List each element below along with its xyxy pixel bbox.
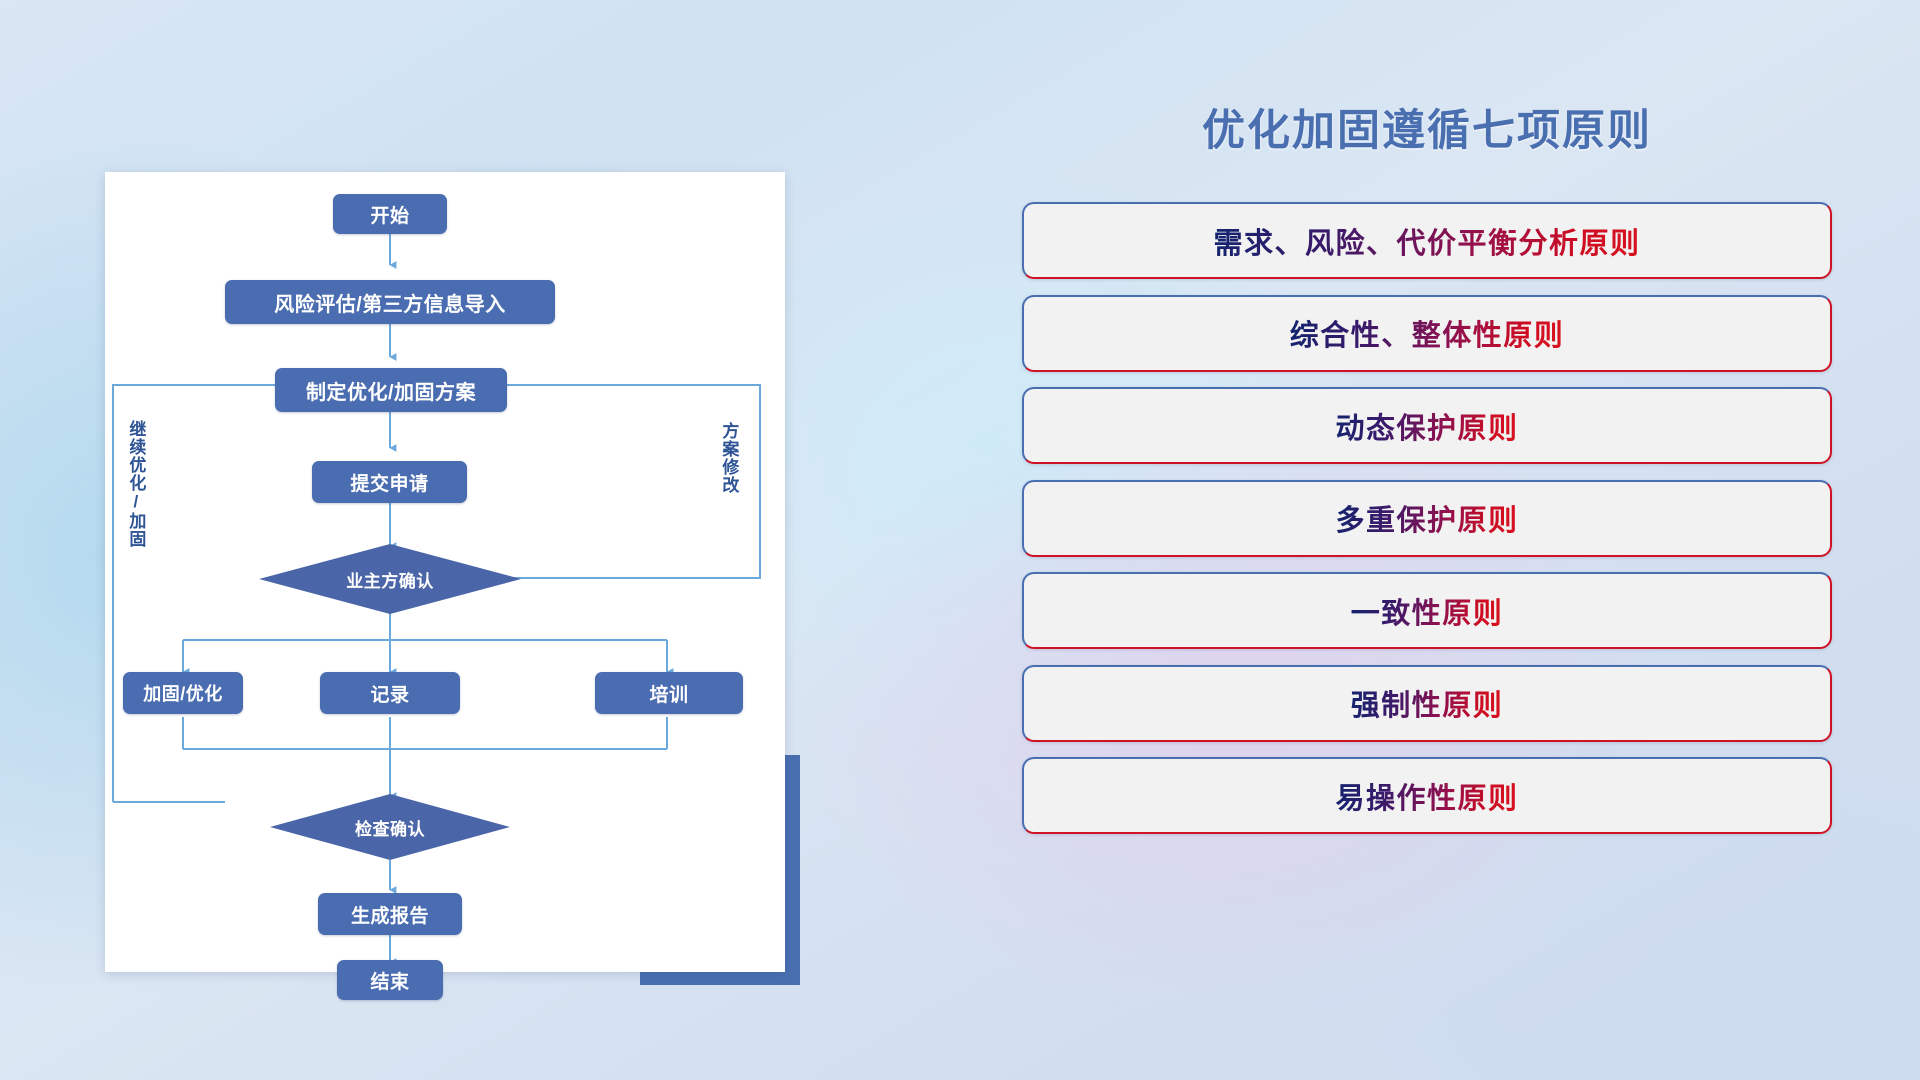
flow-node-reinforce-label: 加固/优化 — [143, 680, 223, 706]
principle-card-6[interactable]: 强制性原则 — [1022, 665, 1832, 742]
principle-card-7[interactable]: 易操作性原则 — [1022, 757, 1832, 834]
principle-card-5-label: 一致性原则 — [1351, 590, 1504, 632]
flow-node-reinforce[interactable]: 加固/优化 — [123, 672, 243, 714]
flow-node-risk-assessment-label: 风险评估/第三方信息导入 — [274, 288, 506, 317]
flow-node-check-confirm[interactable]: 检查确认 — [270, 794, 510, 860]
loop-label-right: 方案修改 — [720, 422, 737, 494]
flow-node-report-label: 生成报告 — [351, 901, 429, 928]
flow-node-owner-confirm-label: 业主方确认 — [346, 567, 434, 592]
principle-card-4-label: 多重保护原则 — [1335, 497, 1518, 539]
flow-node-training-label: 培训 — [649, 680, 688, 707]
flow-node-submit-label: 提交申请 — [350, 469, 428, 496]
flow-node-plan-label: 制定优化/加固方案 — [306, 376, 476, 405]
flow-node-start[interactable]: 开始 — [333, 194, 447, 234]
principle-card-2[interactable]: 综合性、整体性原则 — [1022, 295, 1832, 372]
flow-node-end[interactable]: 结束 — [337, 960, 443, 1000]
principles-section: 优化加固遵循七项原则 需求、风险、代价平衡分析原则 综合性、整体性原则 动态保护… — [1022, 96, 1832, 1016]
flow-node-training[interactable]: 培训 — [595, 672, 743, 714]
flowchart-panel: 继续优化/加固 方案修改 开始 风险评估/第三方信息导入 制定优化/加固方案 提… — [105, 172, 785, 972]
flow-node-check-confirm-label: 检查确认 — [355, 815, 425, 840]
principle-card-3-label: 动态保护原则 — [1335, 405, 1518, 447]
flow-node-owner-confirm[interactable]: 业主方确认 — [259, 544, 521, 614]
loop-label-left: 继续优化/加固 — [127, 420, 144, 548]
flow-node-start-label: 开始 — [370, 201, 409, 228]
slide-canvas: 继续优化/加固 方案修改 开始 风险评估/第三方信息导入 制定优化/加固方案 提… — [0, 0, 1920, 1080]
principle-card-1[interactable]: 需求、风险、代价平衡分析原则 — [1022, 202, 1832, 279]
principles-card-list: 需求、风险、代价平衡分析原则 综合性、整体性原则 动态保护原则 多重保护原则 一… — [1022, 202, 1832, 834]
flow-node-record[interactable]: 记录 — [320, 672, 460, 714]
flow-node-end-label: 结束 — [370, 967, 409, 994]
flow-node-risk-assessment[interactable]: 风险评估/第三方信息导入 — [225, 280, 555, 324]
flow-node-report[interactable]: 生成报告 — [318, 893, 462, 935]
page-title: 优化加固遵循七项原则 — [1022, 96, 1832, 158]
principle-card-1-label: 需求、风险、代价平衡分析原则 — [1213, 220, 1640, 262]
principle-card-5[interactable]: 一致性原则 — [1022, 572, 1832, 649]
flow-node-submit[interactable]: 提交申请 — [312, 461, 467, 503]
flow-node-record-label: 记录 — [370, 680, 409, 707]
principle-card-2-label: 综合性、整体性原则 — [1290, 312, 1565, 354]
principle-card-6-label: 强制性原则 — [1351, 682, 1504, 724]
flow-node-plan[interactable]: 制定优化/加固方案 — [275, 368, 507, 412]
principle-card-4[interactable]: 多重保护原则 — [1022, 480, 1832, 557]
principle-card-3[interactable]: 动态保护原则 — [1022, 387, 1832, 464]
principle-card-7-label: 易操作性原则 — [1335, 775, 1518, 817]
